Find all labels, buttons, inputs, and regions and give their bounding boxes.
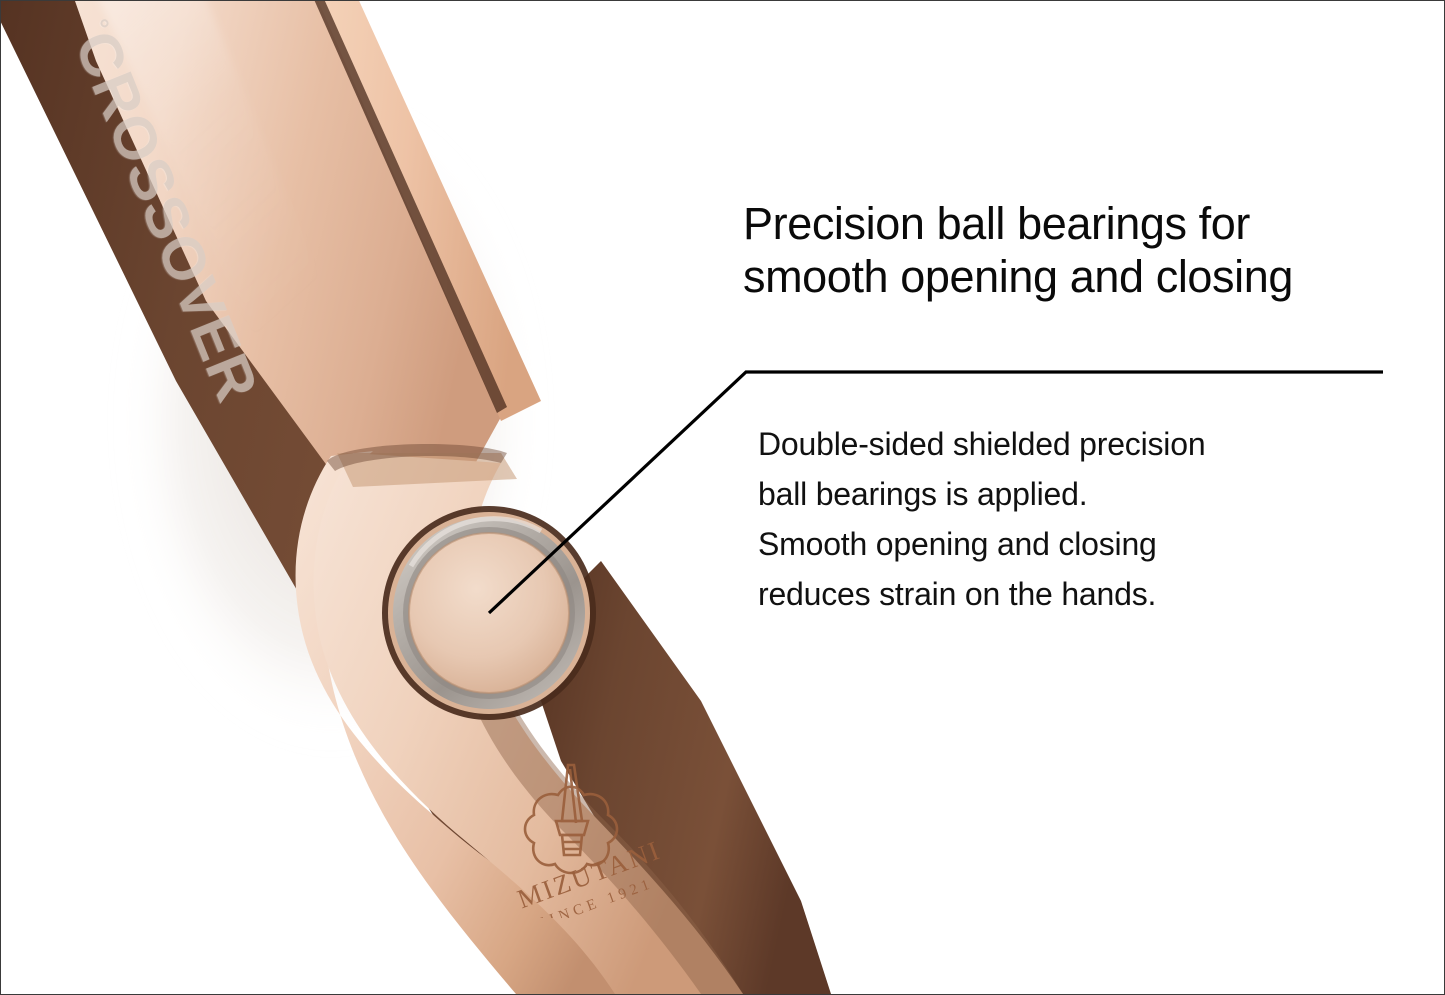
body-line-3: Smooth opening and closing xyxy=(758,519,1398,569)
headline-line-2: smooth opening and closing xyxy=(743,250,1403,303)
product-photo-scissors xyxy=(1,1,831,994)
infographic-canvas: °CROSSOVER MIZUTANI SINCE 1921 xyxy=(0,0,1445,995)
headline-line-1: Precision ball bearings for xyxy=(743,197,1403,250)
body-line-1: Double-sided shielded precision xyxy=(758,419,1398,469)
body-line-4: reduces strain on the hands. xyxy=(758,569,1398,619)
callout-headline: Precision ball bearings for smooth openi… xyxy=(743,197,1403,303)
body-line-2: ball bearings is applied. xyxy=(758,469,1398,519)
callout-body-copy: Double-sided shielded precision ball bea… xyxy=(758,419,1398,619)
